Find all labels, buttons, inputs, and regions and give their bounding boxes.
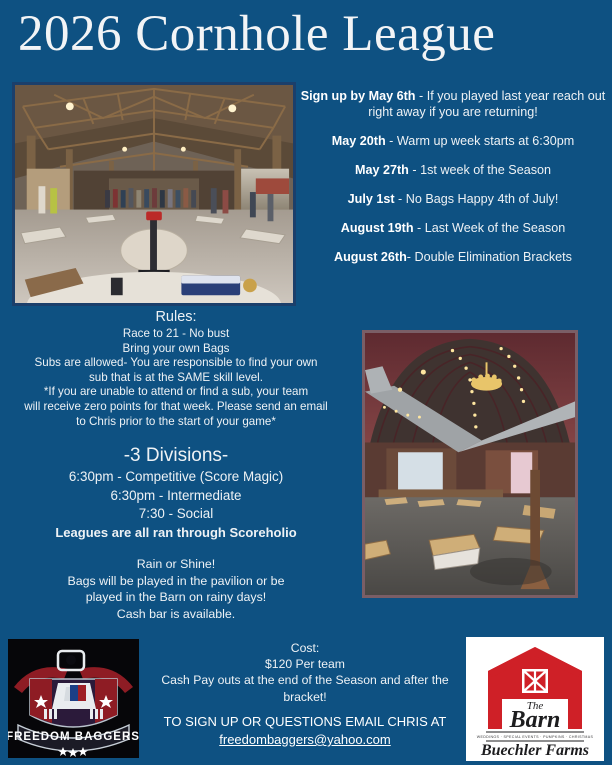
contact-prompt: TO SIGN UP OR QUESTIONS EMAIL CHRIS AT <box>140 713 470 731</box>
rules-section: Rules: Race to 21 - No bust Bring your o… <box>8 308 344 429</box>
schedule-sep: - <box>395 192 406 206</box>
barn-building-icon: The Barn WEDDINGS · SPECIAL EVENTS · PUM… <box>466 637 604 761</box>
schedule-item: Sign up by May 6th - If you played last … <box>300 88 606 120</box>
schedule-sep: - <box>409 163 420 177</box>
rules-heading: Rules: <box>8 308 344 327</box>
schedule-date: August 26th <box>334 250 407 264</box>
schedule-detail: No Bags Happy 4th of July! <box>406 192 559 206</box>
weather-line: Rain or Shine! <box>8 556 344 573</box>
schedule-date: May 20th <box>332 134 386 148</box>
schedule-sep: - <box>416 89 427 103</box>
division-line: 6:30pm - Intermediate <box>8 487 344 506</box>
weather-line: Cash bar is available. <box>8 606 344 623</box>
rules-line: Bring your own Bags <box>8 342 344 357</box>
schedule-item: May 20th - Warm up week starts at 6:30pm <box>300 133 606 149</box>
schedule-date: August 19th <box>341 221 414 235</box>
weather-section: Rain or Shine! Bags will be played in th… <box>8 556 344 622</box>
rules-line: Subs are allowed- You are responsible to… <box>8 356 344 371</box>
contact-section: TO SIGN UP OR QUESTIONS EMAIL CHRIS AT f… <box>140 713 470 749</box>
schedule-date: May 27th <box>355 163 409 177</box>
page-title: 2026 Cornhole League <box>0 2 612 66</box>
rules-line: sub that is at the SAME skill level. <box>8 371 344 386</box>
schedule-sep: - <box>386 134 397 148</box>
barn-photo <box>362 330 578 598</box>
cost-price: $120 Per team <box>140 656 470 672</box>
schedule-date: July 1st <box>348 192 395 206</box>
barn-logo-main-text: Barn <box>509 707 561 733</box>
schedule-detail: Last Week of the Season <box>425 221 566 235</box>
schedule-detail: Warm up week starts at 6:30pm <box>397 134 574 148</box>
rules-line: to Chris prior to the start of your game… <box>8 415 344 430</box>
barn-illustration <box>365 333 575 595</box>
weather-line: played in the Barn on rainy days! <box>8 589 344 606</box>
schedule-item: August 19th - Last Week of the Season <box>300 220 606 236</box>
divisions-section: -3 Divisions- 6:30pm - Competitive (Scor… <box>8 443 344 542</box>
contact-email-link[interactable]: freedombaggers@yahoo.com <box>219 732 390 747</box>
freedom-baggers-emblem-icon: FREEDOM BAGGERS <box>8 639 139 758</box>
division-line: 7:30 - Social <box>8 505 344 524</box>
cost-payout: Cash Pay outs at the end of the Season a… <box>140 672 470 704</box>
rules-line: will receive zero points for that week. … <box>8 400 344 415</box>
schedule-item: May 27th - 1st week of the Season <box>300 162 606 178</box>
cost-heading: Cost: <box>140 640 470 656</box>
poster-canvas: 2026 Cornhole League <box>0 0 612 765</box>
schedule-sep: - <box>414 221 425 235</box>
rules-line: *If you are unable to attend or find a s… <box>8 385 344 400</box>
schedule-detail: Double Elimination Brackets <box>414 250 572 264</box>
schedule-detail: 1st week of the Season <box>420 163 551 177</box>
schedule-list: Sign up by May 6th - If you played last … <box>300 88 606 278</box>
freedom-baggers-logo: FREEDOM BAGGERS <box>8 639 139 758</box>
barn-logo-tagline-text: WEDDINGS · SPECIAL EVENTS · PUMPKINS · C… <box>477 735 594 739</box>
pavilion-photo <box>12 82 296 306</box>
weather-line: Bags will be played in the pavilion or b… <box>8 573 344 590</box>
the-barn-logo: The Barn WEDDINGS · SPECIAL EVENTS · PUM… <box>466 637 604 761</box>
schedule-date: Sign up by May 6th <box>301 89 416 103</box>
barn-logo-farm-text: Buechler Farms <box>480 742 589 759</box>
schedule-item: August 26th- Double Elimination Brackets <box>300 249 606 265</box>
pavilion-illustration <box>15 85 293 303</box>
divisions-footer: Leagues are all ran through Scoreholio <box>8 524 344 543</box>
schedule-item: July 1st - No Bags Happy 4th of July! <box>300 191 606 207</box>
rules-line: Race to 21 - No bust <box>8 327 344 342</box>
cost-section: Cost: $120 Per team Cash Pay outs at the… <box>140 640 470 705</box>
freedom-baggers-banner-text: FREEDOM BAGGERS <box>8 731 139 743</box>
divisions-heading: -3 Divisions- <box>8 443 344 468</box>
division-line: 6:30pm - Competitive (Score Magic) <box>8 468 344 487</box>
